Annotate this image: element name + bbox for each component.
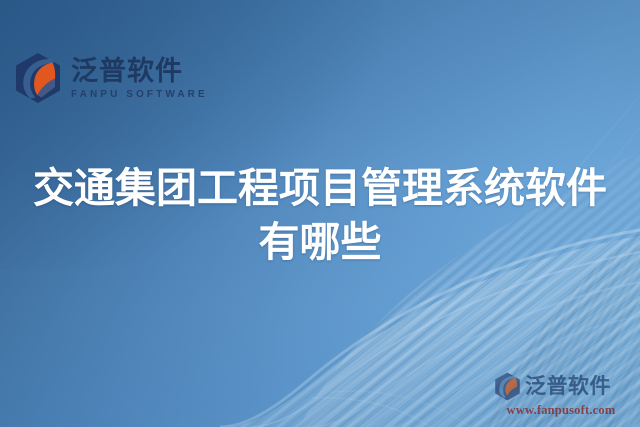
headline-line-1: 交通集团工程项目管理系统软件 [0, 161, 640, 215]
brand-logo-text: 泛普软件 FANPU SOFTWARE [71, 57, 208, 100]
fanpu-hexagon-sail-logo-icon [14, 52, 62, 104]
brand-name-cn: 泛普软件 [71, 58, 208, 85]
headline-line-2: 有哪些 [0, 215, 640, 269]
brand-name-en: FANPU SOFTWARE [71, 90, 208, 100]
brand-logo: 泛普软件 FANPU SOFTWARE [14, 52, 208, 104]
fanpu-hexagon-sail-logo-icon [494, 372, 521, 401]
promo-banner: 泛普软件 FANPU SOFTWARE 交通集团工程项目管理系统软件 有哪些 泛… [0, 0, 640, 427]
watermark-url: www.fanpusoft.com [494, 403, 628, 418]
watermark-brand-name: 泛普软件 [525, 376, 611, 397]
brand-watermark: 泛普软件 www.fanpusoft.com [494, 372, 628, 418]
watermark-brand-row: 泛普软件 [494, 372, 628, 401]
banner-headline: 交通集团工程项目管理系统软件 有哪些 [0, 161, 640, 269]
